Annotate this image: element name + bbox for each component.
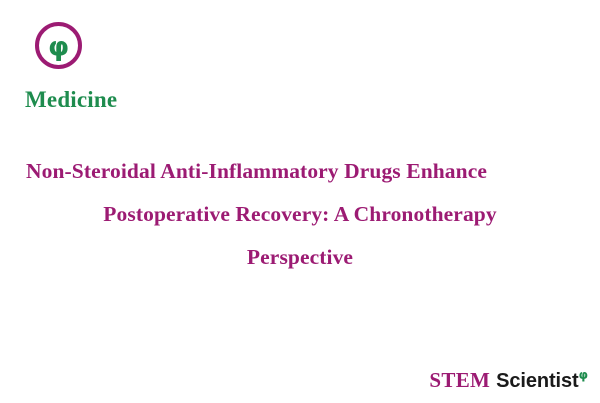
wordmark-stem: STEM <box>429 369 490 391</box>
title-line-1: Non-Steroidal Anti-Inflammatory Drugs En… <box>22 150 578 193</box>
wordmark-scientist: Scientist <box>496 370 578 392</box>
category-label: Medicine <box>25 87 117 113</box>
title-line-3: Perspective <box>22 236 578 279</box>
phi-circle-logo-icon: φ <box>34 21 83 70</box>
page-title: Non-Steroidal Anti-Inflammatory Drugs En… <box>22 150 578 279</box>
wordmark-phi-icon: φ <box>579 369 588 381</box>
title-line-2: Postoperative Recovery: A Chronotherapy <box>22 193 578 236</box>
article-title-card: φ Medicine Non-Steroidal Anti-Inflammato… <box>0 0 600 403</box>
svg-text:φ: φ <box>48 32 69 63</box>
stem-scientist-wordmark: STEM Scientist φ <box>429 369 588 392</box>
